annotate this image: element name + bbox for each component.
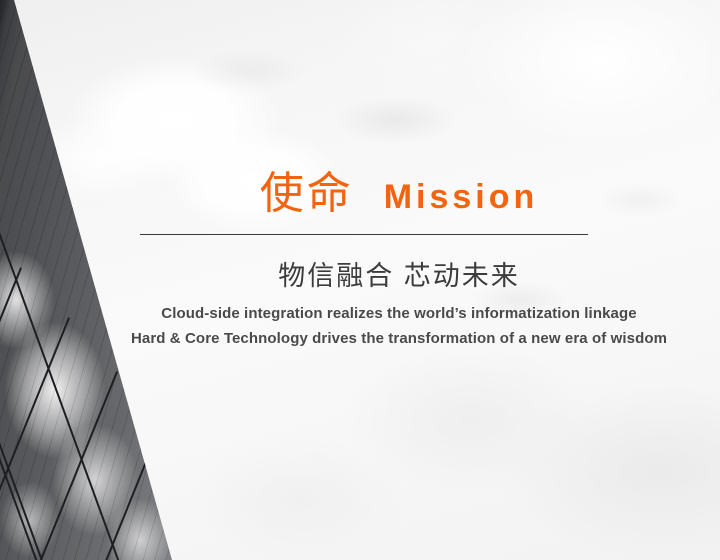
banner-content: 使命 Mission 物信融合 芯动未来 Cloud-side integrat… xyxy=(0,0,720,560)
body-line: Cloud-side integration realizes the worl… xyxy=(78,301,720,326)
heading-chinese: 使命 xyxy=(260,172,354,216)
banner-body: Cloud-side integration realizes the worl… xyxy=(0,301,720,351)
heading-english: Mission xyxy=(384,180,539,214)
heading-divider xyxy=(140,234,588,235)
banner-heading: 使命 Mission xyxy=(0,172,720,216)
banner-subtitle: 物信融合 芯动未来 xyxy=(0,258,720,294)
mission-banner: 使命 Mission 物信融合 芯动未来 Cloud-side integrat… xyxy=(0,0,720,560)
body-line: Hard & Core Technology drives the transf… xyxy=(78,326,720,351)
